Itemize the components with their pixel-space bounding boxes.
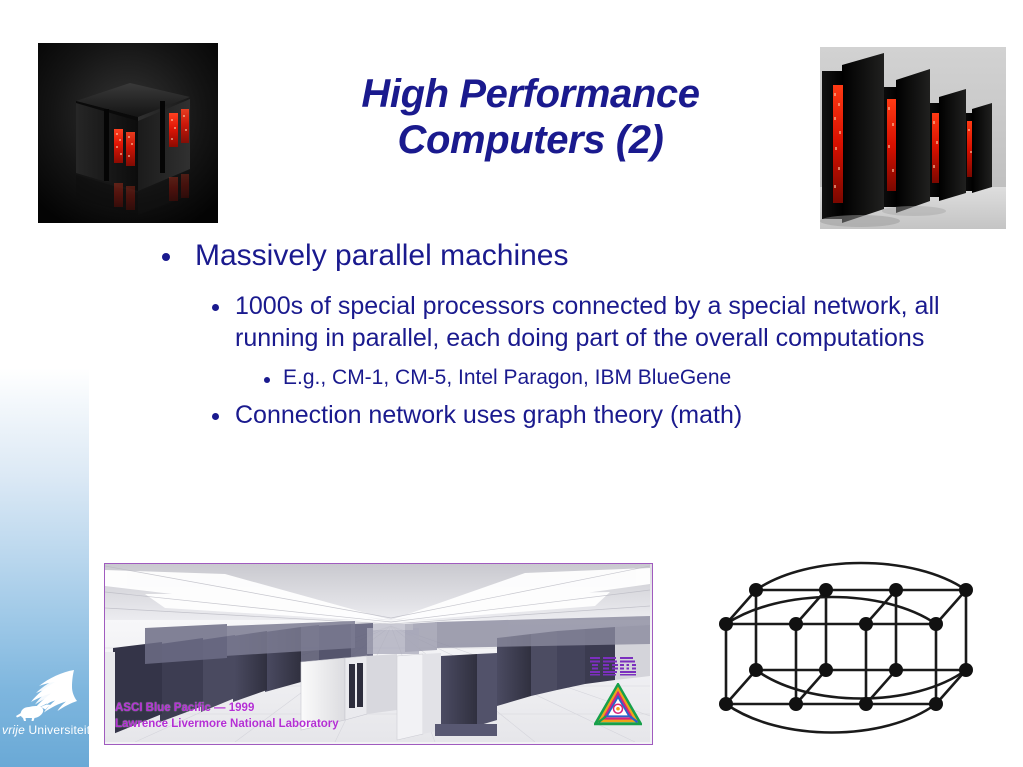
round-bullet-icon [162,253,170,261]
cm5-cube-illustration [38,43,218,223]
asci-blue-pacific-photo: ASCI Blue Pacific — 1999 Lawrence Liverm… [104,563,653,745]
bullet-item-level3: E.g., CM-1, CM-5, Intel Paragon, IBM Blu… [120,365,1010,391]
vu-logo: vrije Universiteit [0,667,89,741]
torus-network-diagram [718,558,1006,748]
vu-wordmark: vrije Universiteit [0,723,89,737]
bullet-text: Massively parallel machines [195,238,1010,273]
bullet-list: Massively parallel machines 1000s of spe… [120,238,1010,433]
bullet-item-level2: 1000s of special processors connected by… [120,290,1010,354]
asci-triangle-logo [594,683,642,727]
torus-graph-illustration [718,558,1006,748]
vu-wordmark-vrije: vrije [2,723,25,737]
cm5-rack-photo [820,47,1006,229]
bullet-item-level2: Connection network uses graph theory (ma… [120,399,1010,431]
round-bullet-icon [212,413,219,420]
bullet-text: Connection network uses graph theory (ma… [235,399,960,431]
round-bullet-icon [212,304,219,311]
bullet-spacer [120,277,1010,290]
bullet-item-level1: Massively parallel machines [120,238,1010,273]
vu-griffin-icon [14,667,78,723]
ibm-logo [590,656,642,676]
asci-caption-line-1: ASCI Blue Pacific — 1999 [115,700,339,717]
cm5-rack-illustration [820,47,1006,229]
bullet-text: 1000s of special processors connected by… [235,290,960,354]
page-title-line-2: Computers (2) [258,117,803,163]
page-title: High Performance Computers (2) [258,71,803,164]
cm5-cube-photo [38,43,218,223]
bullet-spacer [120,356,1010,365]
round-bullet-icon [264,377,270,383]
asci-photo-caption: ASCI Blue Pacific — 1999 Lawrence Liverm… [115,700,339,733]
bullet-text: E.g., CM-1, CM-5, Intel Paragon, IBM Blu… [283,365,1010,391]
vu-wordmark-universiteit: Universiteit [25,723,90,737]
page-title-line-1: High Performance [258,71,803,117]
asci-caption-line-2: Lawrence Livermore National Laboratory [115,716,339,733]
